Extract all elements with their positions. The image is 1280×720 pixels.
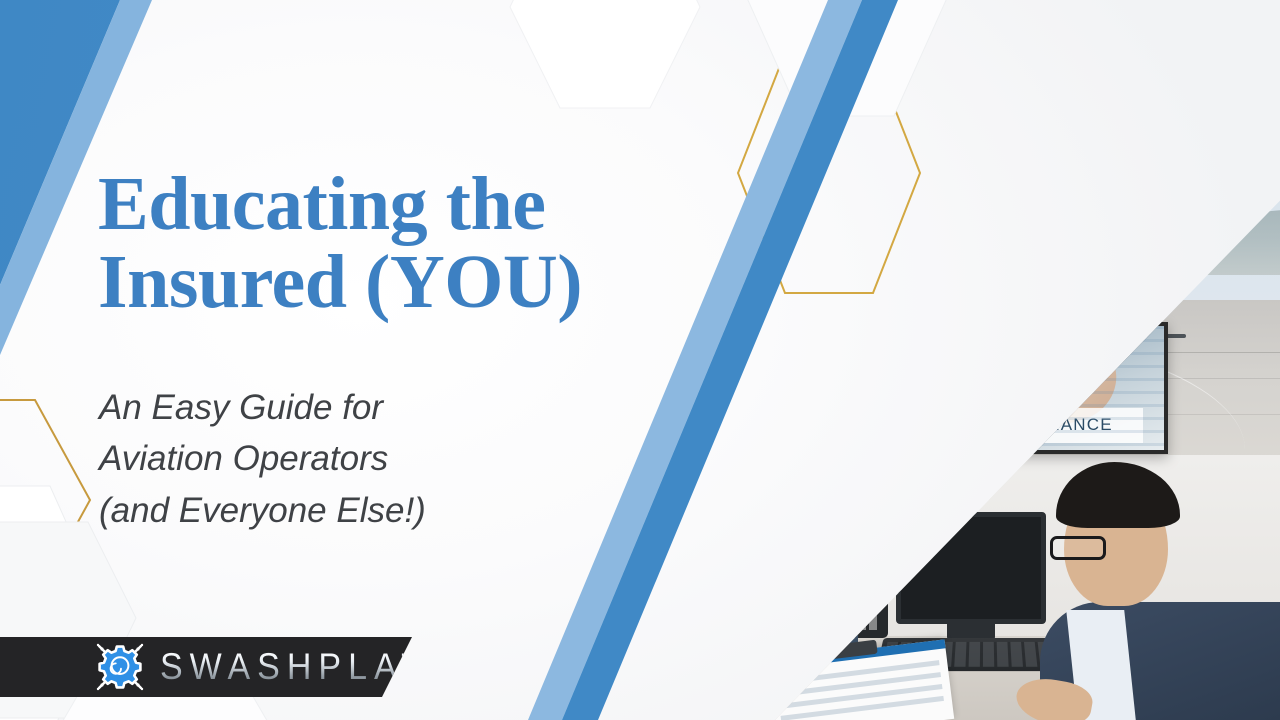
hexagon-solid-top-right — [742, 0, 952, 140]
hexagon-solid-top-center — [510, 0, 700, 132]
helicopter-teal — [720, 88, 1060, 338]
client — [1010, 452, 1280, 720]
helicopter-red — [910, 96, 1280, 366]
hexagon-outline-right-gold — [725, 48, 885, 308]
brochure-stand — [588, 578, 708, 674]
page-subtitle: An Easy Guide for Aviation Operators (an… — [99, 382, 569, 536]
hexagon-outline-left-gold — [0, 370, 100, 630]
title-slide: LIFE INSURANCE — [0, 0, 1280, 720]
hero-photo: LIFE INSURANCE — [580, 0, 1280, 720]
life-insurance-poster: LIFE INSURANCE — [900, 322, 1168, 454]
brand-wordmark: SWASHPLATE — [160, 649, 459, 686]
gear-icon — [92, 639, 148, 695]
page-title: Educating the Insured (YOU) — [98, 166, 718, 321]
clipboard-form — [766, 639, 954, 720]
brand-logo-banner[interactable]: SWASHPLATE — [0, 637, 412, 697]
